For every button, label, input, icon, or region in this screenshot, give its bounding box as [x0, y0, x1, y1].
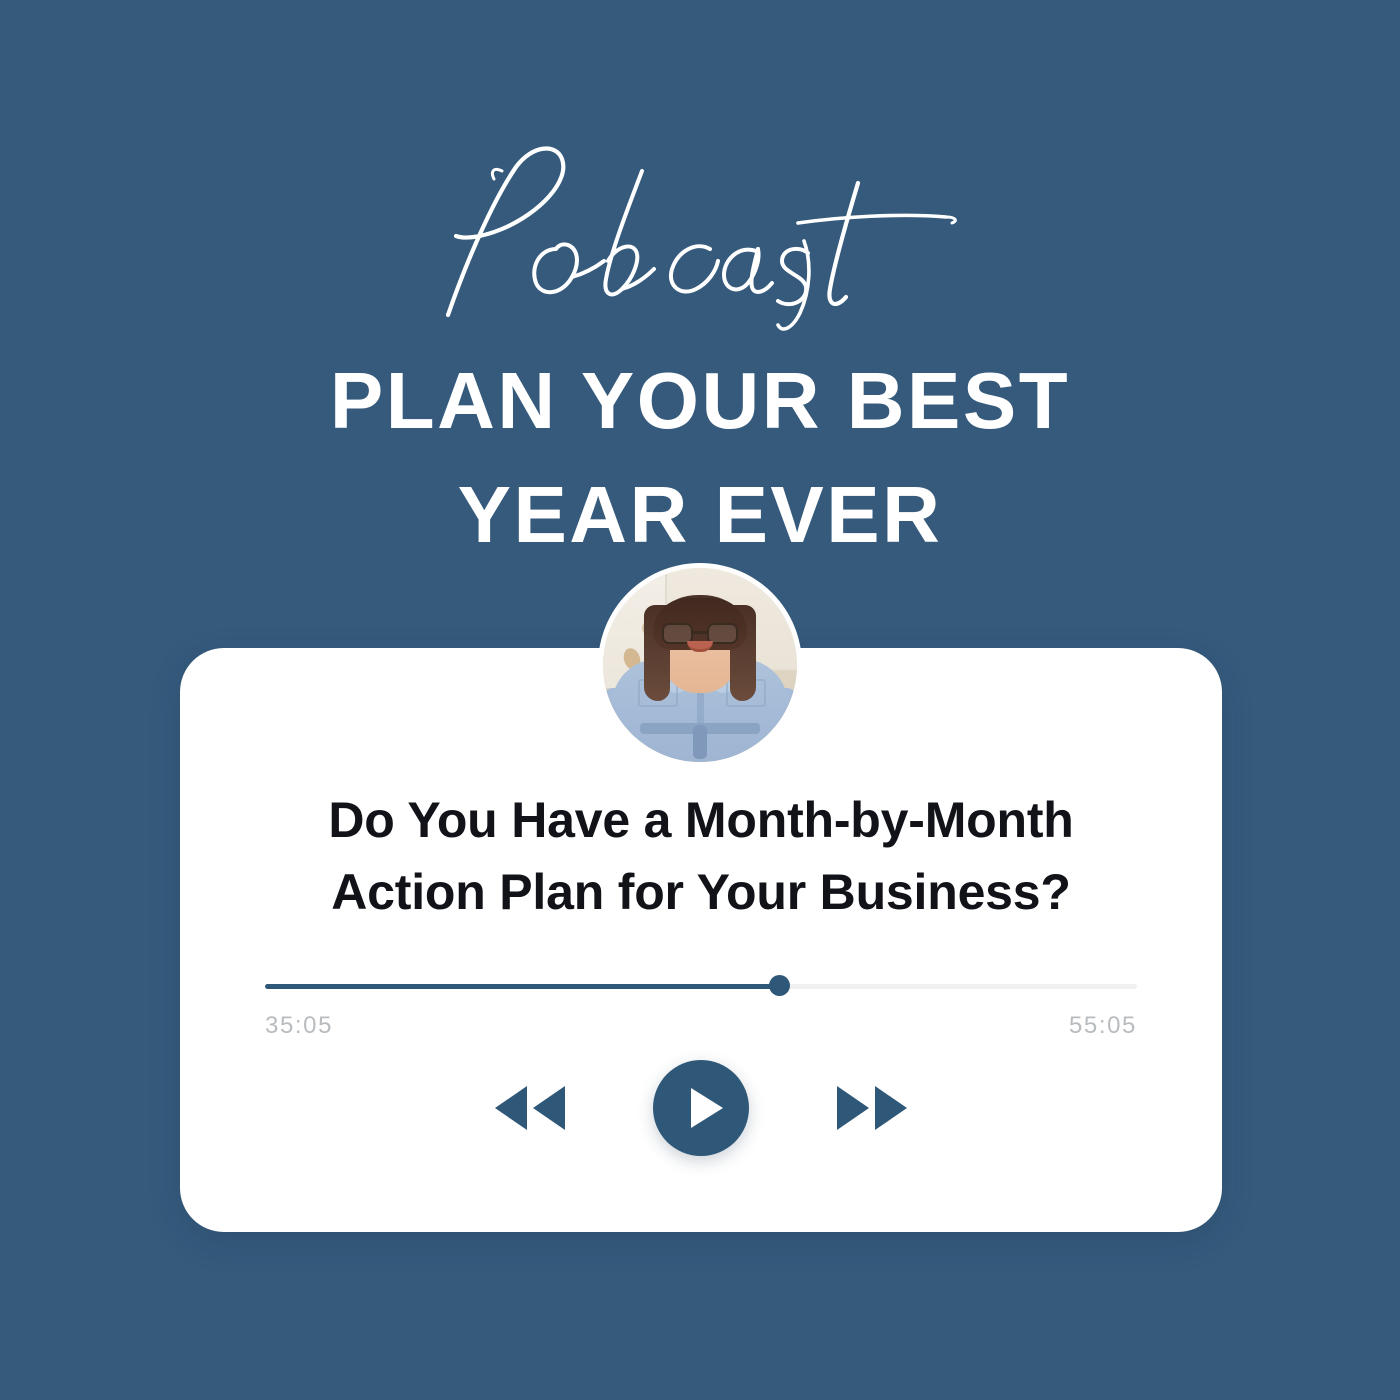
progress-slider[interactable]	[265, 976, 1137, 996]
episode-title-line-2: Action Plan for Your Business?	[230, 856, 1172, 928]
show-title-line-2: YEAR EVER	[0, 458, 1400, 572]
avatar	[598, 563, 802, 767]
rewind-icon	[493, 1080, 569, 1136]
progress-fill	[265, 984, 779, 989]
player-controls	[180, 1038, 1222, 1178]
episode-title-line-1: Do You Have a Month-by-Month	[230, 784, 1172, 856]
time-row: 35:05 55:05	[265, 1012, 1137, 1040]
show-title-line-1: PLAN YOUR BEST	[0, 344, 1400, 458]
avatar-photo	[603, 568, 797, 762]
rewind-button[interactable]	[493, 1080, 569, 1136]
episode-title: Do You Have a Month-by-Month Action Plan…	[230, 784, 1172, 928]
fast-forward-button[interactable]	[833, 1080, 909, 1136]
podcast-script-wordmark	[0, 132, 1400, 342]
total-time: 55:05	[1069, 1012, 1137, 1040]
progress-knob[interactable]	[769, 975, 790, 996]
show-title: PLAN YOUR BEST YEAR EVER	[0, 344, 1400, 572]
podcast-episode-poster: PLAN YOUR BEST YEAR EVER Do You Have a M…	[0, 0, 1400, 1400]
play-icon	[653, 1060, 749, 1156]
fast-forward-icon	[833, 1080, 909, 1136]
current-time: 35:05	[265, 1012, 333, 1040]
play-button[interactable]	[653, 1060, 749, 1156]
